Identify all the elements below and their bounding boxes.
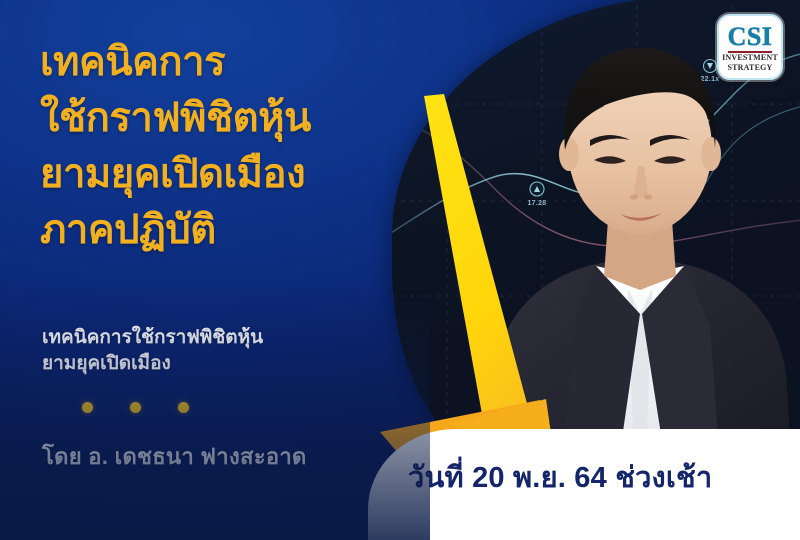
csi-logo[interactable]: CSI INVESTMENT STRATEGY	[717, 14, 783, 80]
logo-wordmark: CSI	[728, 24, 773, 49]
logo-subtitle-investment: INVESTMENT	[722, 54, 778, 62]
logo-subtitle-strategy: STRATEGY	[727, 64, 772, 72]
poster-canvas: 17.28 22.1x	[0, 0, 800, 540]
speaker-photo	[468, 14, 800, 466]
banner-date-text: วันที่ 20 พ.ย. 64 ช่วงเช้า	[408, 457, 712, 499]
date-banner: วันที่ 20 พ.ย. 64 ช่วงเช้า	[368, 429, 800, 540]
